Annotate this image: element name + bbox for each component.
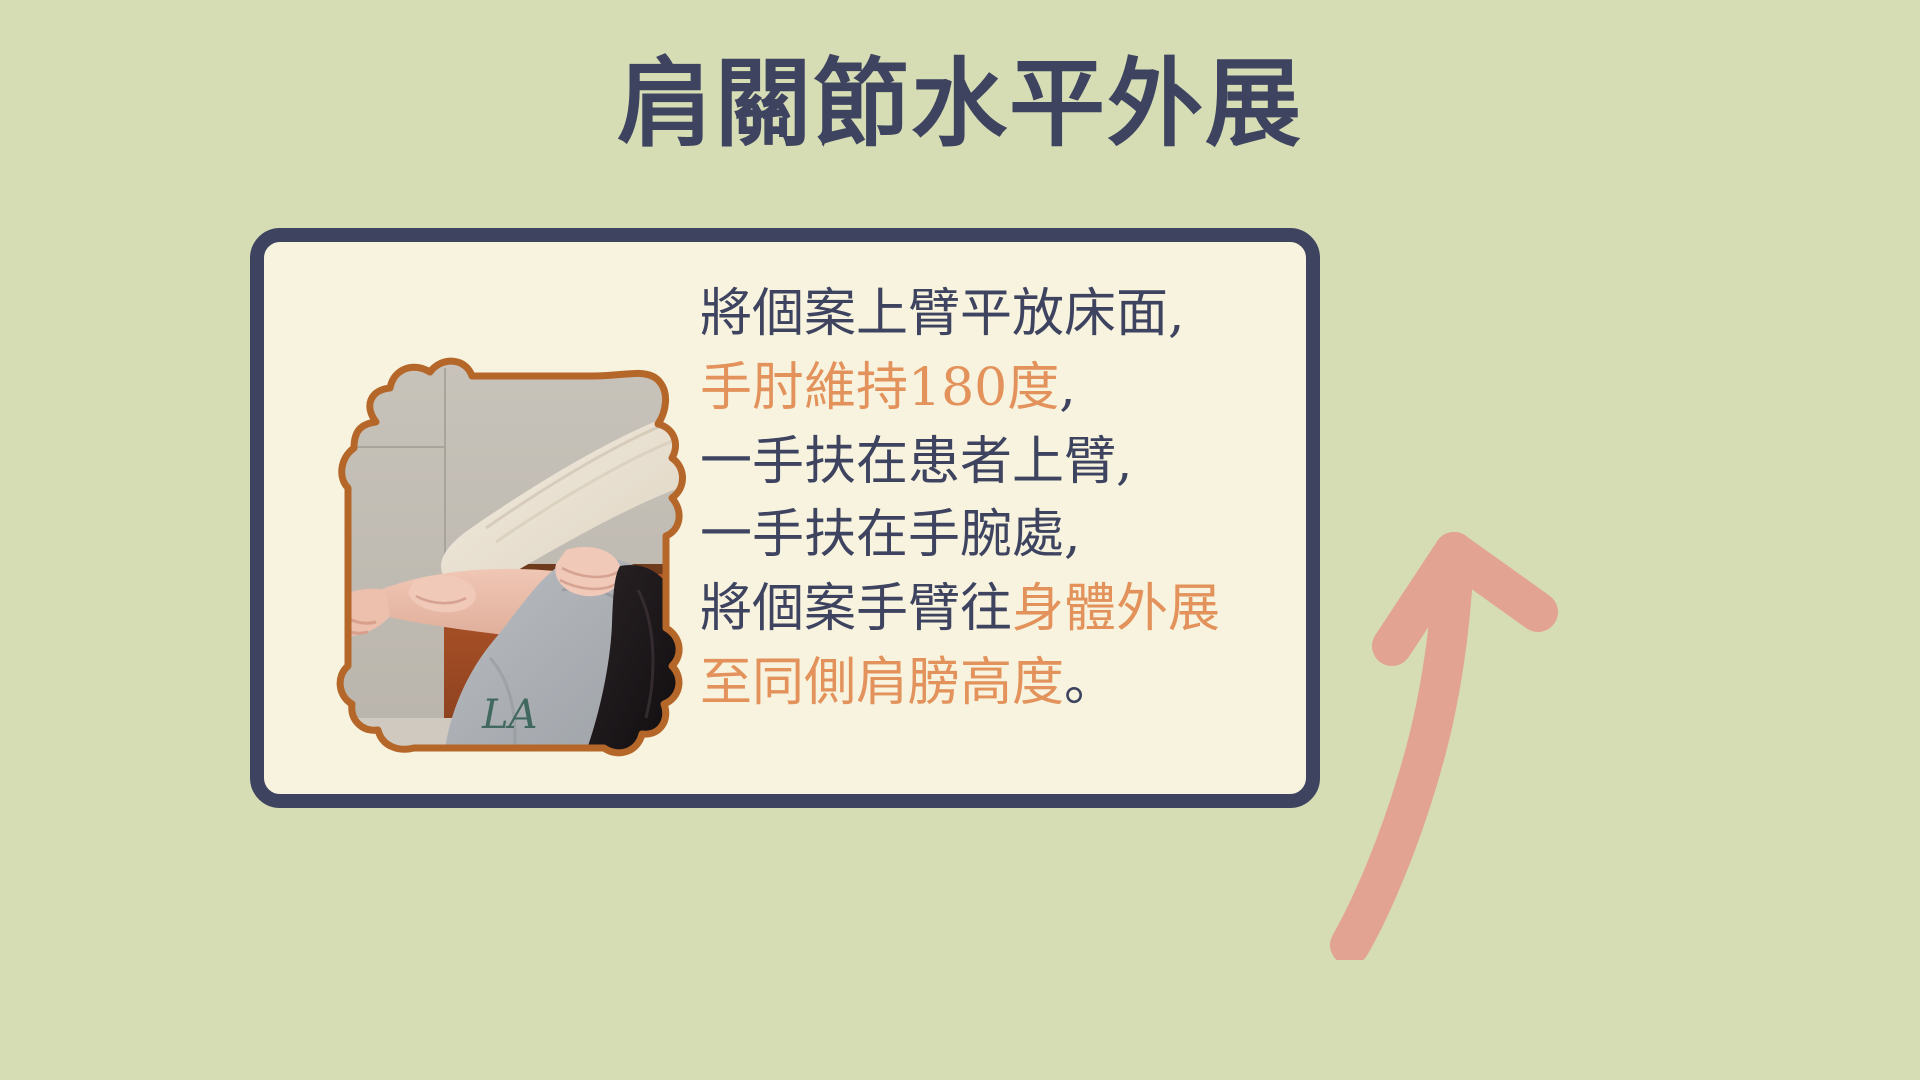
body-text: 將個案手臂往 <box>700 579 1012 639</box>
sweatshirt-text: LA <box>481 692 537 738</box>
curved-up-arrow-svg <box>1330 400 1670 960</box>
body-text: 一手扶在手腕處, <box>700 505 1081 565</box>
page-title: 肩關節水平外展 <box>0 52 1920 158</box>
instruction-line: 一手扶在患者上臂, <box>700 426 1300 500</box>
instruction-line: 至同側肩膀高度。 <box>700 647 1300 721</box>
instruction-text-block: 將個案上臂平放床面,手肘維持180度,一手扶在患者上臂,一手扶在手腕處,將個案手… <box>700 278 1300 721</box>
instruction-line: 手肘維持180度, <box>700 352 1300 426</box>
demo-photo-svg: LA <box>294 328 714 768</box>
slide-canvas: 肩關節水平外展 <box>0 0 1920 1080</box>
curved-up-arrow-icon <box>1330 400 1670 960</box>
arrow-barb-left <box>1392 552 1454 646</box>
arrow-shaft <box>1350 552 1454 945</box>
arrow-barb-right <box>1454 552 1538 612</box>
instruction-card: LA 將個案上臂平放床面,手肘維持180度,一手扶在患者上臂,一手扶在手腕處,將… <box>250 228 1320 808</box>
highlighted-text: 至同側肩膀高度 <box>700 653 1064 713</box>
body-text: , <box>1059 358 1076 418</box>
instruction-line: 將個案上臂平放床面, <box>700 278 1300 352</box>
highlighted-text: 手肘維持180度 <box>700 358 1059 418</box>
body-text: 一手扶在患者上臂, <box>700 432 1133 492</box>
highlighted-text: 身體外展 <box>1012 579 1220 639</box>
demo-photo-frame: LA <box>294 328 714 768</box>
body-text: 。 <box>1064 653 1116 713</box>
instruction-line: 將個案手臂往身體外展 <box>700 573 1300 647</box>
instruction-line: 一手扶在手腕處, <box>700 499 1300 573</box>
body-text: 將個案上臂平放床面, <box>700 284 1185 344</box>
photo-content: LA <box>294 328 714 768</box>
